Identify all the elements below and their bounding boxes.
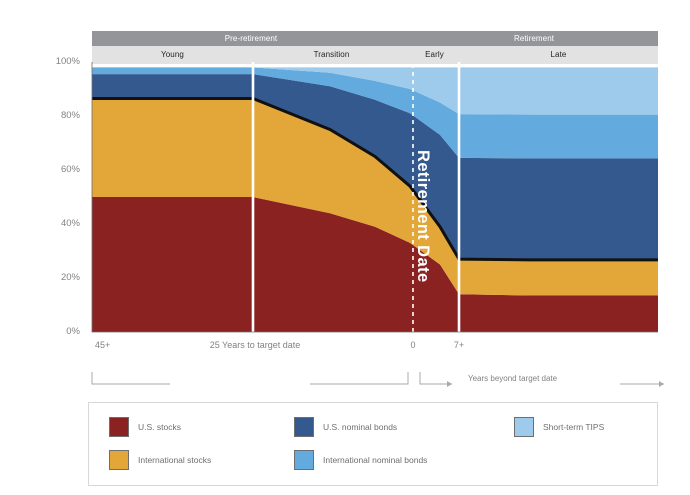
legend-item: International nominal bonds	[294, 450, 427, 470]
stocks-bonds-boundary-line	[92, 98, 658, 259]
legend: U.S. stocksInternational stocksU.S. nomi…	[88, 402, 658, 486]
legend-label: U.S. stocks	[138, 422, 181, 432]
y-axis-tick-label: 0%	[34, 326, 80, 337]
years-beyond-target-note: Years beyond target date	[468, 374, 557, 383]
arrow-head-icon	[659, 381, 664, 387]
phase-band-label: Pre-retirement	[92, 31, 410, 46]
phase-band-label: Retirement	[410, 31, 658, 46]
legend-label: International stocks	[138, 455, 211, 465]
x-axis-tick-label: 25 Years to target date	[210, 340, 301, 350]
area-international-stocks	[92, 98, 658, 295]
x-axis-tick-label: 45+	[95, 340, 110, 350]
phase-sub-band-label: Early	[410, 46, 459, 64]
y-axis-tick-label: 40%	[34, 218, 80, 229]
legend-item: U.S. stocks	[109, 417, 181, 437]
legend-label: U.S. nominal bonds	[323, 422, 397, 432]
phase-band-retirement: Retirement	[410, 31, 658, 46]
legend-label: Short-term TIPS	[543, 422, 604, 432]
legend-swatch	[294, 450, 314, 470]
phase-sub-band-label: Late	[459, 46, 658, 64]
legend-item: Short-term TIPS	[514, 417, 604, 437]
y-axis-tick-label: 100%	[34, 56, 80, 67]
plot-frame	[92, 62, 658, 332]
phase-sub-band-young: Young	[92, 46, 253, 64]
arrow-head-icon	[447, 381, 452, 387]
area-international-nominal-bonds	[92, 67, 658, 158]
area-short-term-tips	[92, 67, 658, 114]
glide-path-figure: Pre-retirementRetirementYoungTransitionE…	[0, 0, 690, 495]
phase-band-pre-retirement: Pre-retirement	[92, 31, 410, 46]
area-u-s-nominal-bonds	[92, 74, 658, 260]
x-axis-tick-label: 7+	[454, 340, 464, 350]
legend-item: International stocks	[109, 450, 211, 470]
phase-sub-band-label: Young	[92, 46, 253, 64]
bracket	[310, 372, 408, 384]
phase-sub-band-transition: Transition	[253, 46, 410, 64]
area-u-s-stocks	[92, 197, 658, 332]
legend-swatch	[109, 450, 129, 470]
y-axis-tick-label: 80%	[34, 110, 80, 121]
legend-swatch	[109, 417, 129, 437]
phase-sub-band-early: Early	[410, 46, 459, 64]
retirement-date-label: Retirement Date	[414, 150, 432, 283]
x-axis-tick-label: 0	[410, 340, 415, 350]
bracket	[92, 372, 170, 384]
legend-label: International nominal bonds	[323, 455, 427, 465]
phase-sub-band-late: Late	[459, 46, 658, 64]
y-axis-tick-label: 20%	[34, 272, 80, 283]
legend-swatch	[294, 417, 314, 437]
legend-swatch	[514, 417, 534, 437]
legend-item: U.S. nominal bonds	[294, 417, 397, 437]
y-axis-tick-label: 60%	[34, 164, 80, 175]
phase-sub-band-label: Transition	[253, 46, 410, 64]
bracket-rails	[0, 362, 690, 402]
